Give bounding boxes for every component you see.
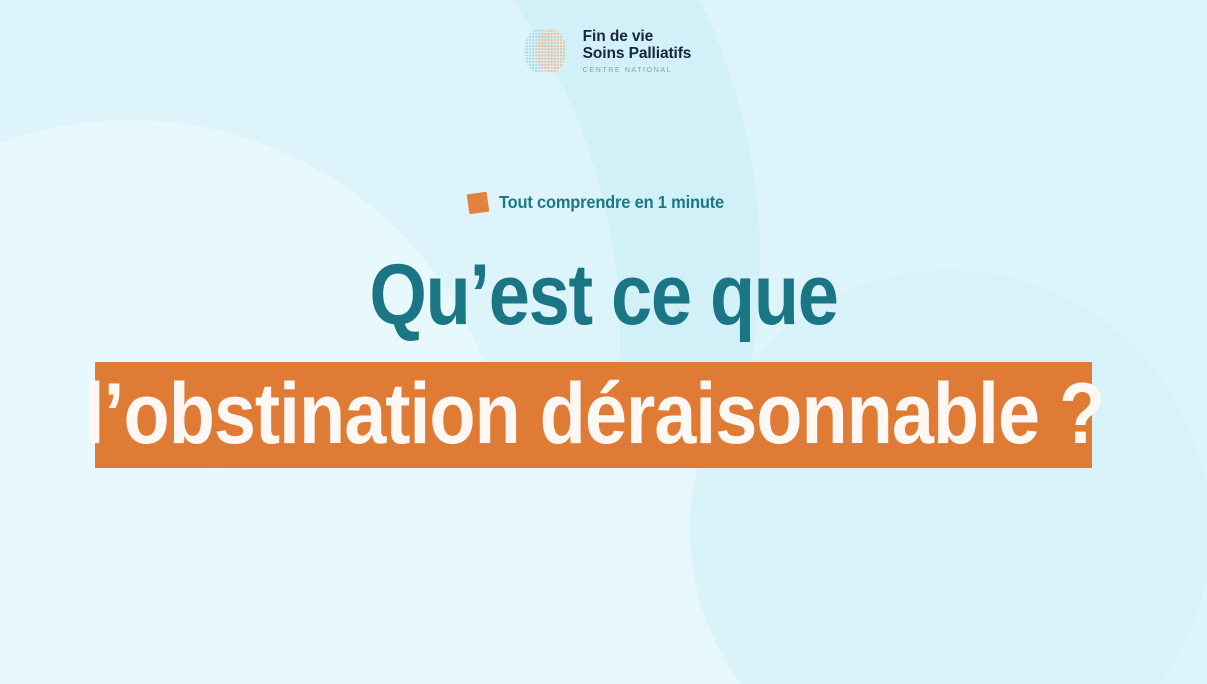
headline-line-2: l’obstination déraisonnable ? (83, 371, 1104, 457)
wave-blob-bottom (0, 430, 1140, 684)
logo-line-3: CENTRE NATIONAL (583, 66, 692, 73)
logo-line-1: Fin de vie (583, 29, 692, 45)
logo-wordmark: Fin de vie Soins Palliatifs CENTRE NATIO… (583, 29, 692, 73)
kicker-row: Tout comprendre en 1 minute (0, 192, 1207, 213)
video-title-card: Fin de vie Soins Palliatifs CENTRE NATIO… (0, 0, 1207, 684)
brand-logo: Fin de vie Soins Palliatifs CENTRE NATIO… (0, 26, 1207, 76)
headline-banner: l’obstination déraisonnable ? (95, 362, 1092, 468)
two-overlapping-dotted-circles-logo (516, 26, 574, 76)
kicker-label: Tout comprendre en 1 minute (499, 192, 724, 213)
orange-square-bullet-icon (467, 191, 490, 214)
headline-line-1: Qu’est ce que (84, 252, 1122, 338)
logo-line-2: Soins Palliatifs (583, 46, 692, 62)
